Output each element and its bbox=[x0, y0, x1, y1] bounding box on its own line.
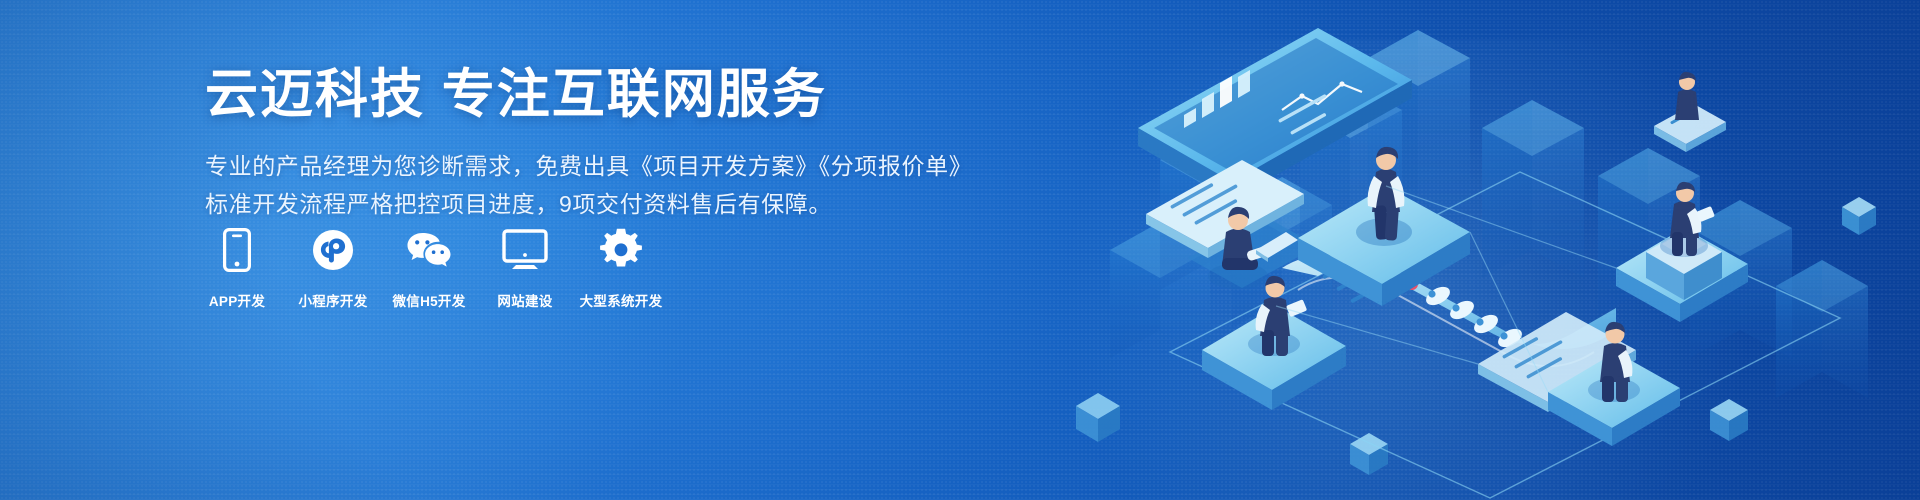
service-label-app: APP开发 bbox=[209, 290, 265, 310]
service-label-mini-program: 小程序开发 bbox=[299, 290, 368, 310]
service-label-wechat-h5: 微信H5开发 bbox=[392, 290, 465, 310]
wechat-icon bbox=[405, 228, 453, 272]
banner-subtitle: 专业的产品经理为您诊断需求，免费出具《项目开发方案》《分项报价单》 标准开发流程… bbox=[205, 148, 965, 223]
page-title: 云迈科技 专注互联网服务 bbox=[205, 66, 965, 124]
service-item-website[interactable]: 网站建设 bbox=[488, 228, 562, 310]
gear-icon bbox=[599, 228, 643, 272]
service-label-system: 大型系统开发 bbox=[580, 290, 663, 310]
mobile-phone-icon bbox=[223, 228, 251, 272]
service-item-app[interactable]: APP开发 bbox=[200, 228, 274, 310]
subtitle-line-1: 专业的产品经理为您诊断需求，免费出具《项目开发方案》《分项报价单》 bbox=[205, 148, 965, 185]
service-label-website: 网站建设 bbox=[497, 290, 552, 310]
isometric-tech-illustration bbox=[1050, 0, 1920, 500]
promo-banner: 云迈科技 专注互联网服务 专业的产品经理为您诊断需求，免费出具《项目开发方案》《… bbox=[0, 0, 1920, 500]
service-item-wechat-h5[interactable]: 微信H5开发 bbox=[392, 228, 466, 310]
service-list: APP开发 小程序开发 bbox=[200, 228, 658, 310]
service-item-system[interactable]: 大型系统开发 bbox=[584, 228, 658, 310]
mini-program-icon bbox=[312, 228, 354, 272]
subtitle-line-2: 标准开发流程严格把控项目进度，9项交付资料售后有保障。 bbox=[205, 186, 965, 223]
monitor-icon bbox=[502, 228, 548, 272]
banner-text-block: 云迈科技 专注互联网服务 专业的产品经理为您诊断需求，免费出具《项目开发方案》《… bbox=[205, 66, 965, 223]
service-item-mini-program[interactable]: 小程序开发 bbox=[296, 228, 370, 310]
person-top-right bbox=[1675, 72, 1699, 120]
